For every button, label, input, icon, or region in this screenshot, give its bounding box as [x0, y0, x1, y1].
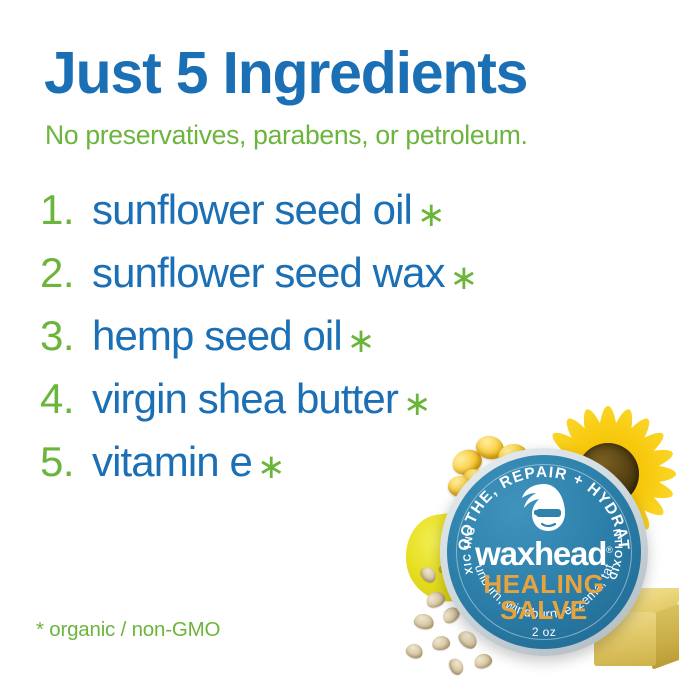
page-subtitle: No preservatives, parabens, or petroleum… — [45, 120, 528, 151]
list-item-number: 4. — [40, 375, 92, 423]
brand-name: waxhead® — [447, 535, 641, 573]
product-size: 2 oz — [447, 625, 641, 639]
list-item-label: hemp seed oil — [92, 312, 342, 360]
list-item: 1. sunflower seed oil ∗ — [40, 186, 580, 249]
organic-marker-icon: ∗ — [417, 195, 446, 235]
page-title: Just 5 Ingredients — [44, 44, 527, 103]
surfer-face-icon — [515, 481, 573, 535]
list-item-number: 1. — [40, 186, 92, 234]
hemp-seed-icon — [447, 656, 466, 677]
product-name-line2: SALVE — [447, 595, 641, 626]
list-item-number: 2. — [40, 249, 92, 297]
trademark-symbol: ® — [606, 545, 613, 555]
list-item-label: vitamin e — [92, 438, 252, 486]
list-item-label: sunflower seed oil — [92, 186, 412, 234]
infographic-canvas: Just 5 Ingredients No preservatives, par… — [0, 0, 679, 679]
organic-marker-icon: ∗ — [347, 321, 376, 361]
list-item: 2. sunflower seed wax ∗ — [40, 249, 580, 312]
organic-marker-icon: ∗ — [257, 447, 286, 487]
hemp-seed-icon — [472, 652, 493, 671]
list-item-label: virgin shea butter — [92, 375, 398, 423]
list-item-number: 3. — [40, 312, 92, 360]
product-tin[interactable]: SOOTHE, REPAIR + HYDRATE 5 NON-TOXIC ING… — [440, 448, 648, 656]
footnote: * organic / non-GMO — [36, 618, 220, 642]
list-item: 3. hemp seed oil ∗ — [40, 312, 580, 375]
list-item-number: 5. — [40, 438, 92, 486]
hemp-seed-icon — [404, 642, 425, 661]
product-photo: SOOTHE, REPAIR + HYDRATE 5 NON-TOXIC ING… — [398, 392, 679, 679]
hemp-seed-icon — [413, 612, 436, 631]
organic-marker-icon: ∗ — [450, 258, 479, 298]
list-item-label: sunflower seed wax — [92, 249, 445, 297]
